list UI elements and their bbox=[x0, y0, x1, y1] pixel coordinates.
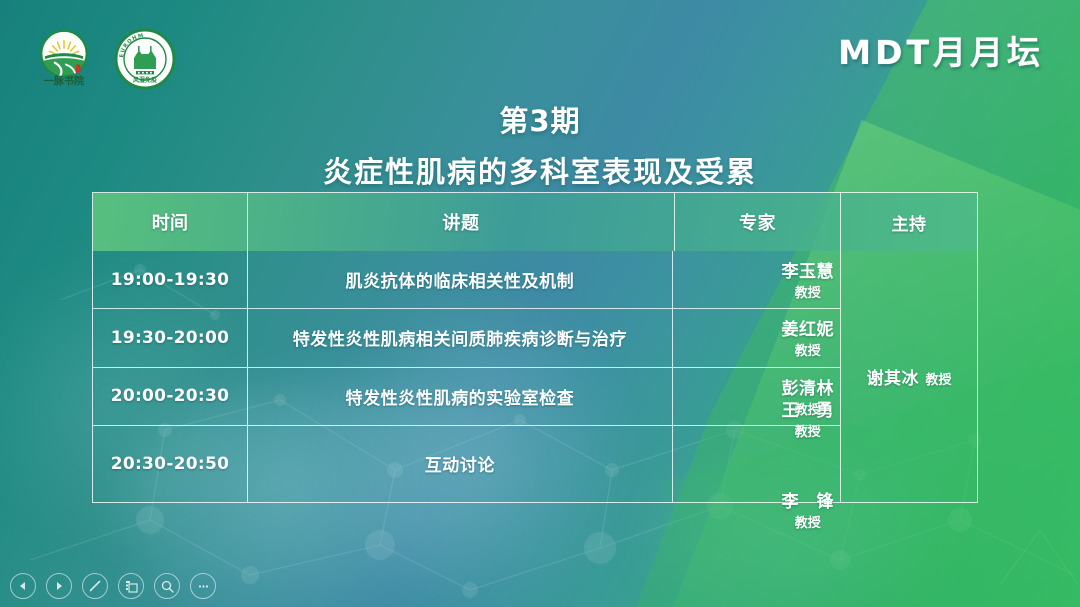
cell-topic: 特发性炎性肌病相关间质肺疾病诊断与治疗 bbox=[248, 309, 673, 366]
cell-time: 20:00-20:30 bbox=[93, 368, 248, 425]
svg-text:风湿免疫: 风湿免疫 bbox=[133, 76, 157, 84]
zoom-search-button[interactable] bbox=[154, 573, 180, 599]
slide-toolbar[interactable] bbox=[10, 573, 216, 599]
expert-name: 王 勇 bbox=[782, 401, 835, 421]
pen-icon bbox=[88, 579, 102, 593]
host-title: 教授 bbox=[925, 373, 951, 388]
magnifier-icon bbox=[161, 580, 174, 593]
cell-topic: 互动讨论 bbox=[248, 426, 673, 502]
cell-host: 谢其冰 教授 bbox=[841, 251, 977, 502]
episode-title: 第3期 bbox=[0, 98, 1080, 140]
title-block: 第3期 炎症性肌病的多科室表现及受累 bbox=[0, 98, 1080, 191]
table-header-row: 时间 讲题 专家 主持 bbox=[93, 193, 977, 251]
yimai-academy-logo: 一脉书院 bbox=[30, 28, 98, 90]
column-header-time: 时间 bbox=[93, 193, 248, 251]
schedule-table: 时间 讲题 专家 主持 19:00-19:30 肌炎抗体的临床相关性及机制 李玉… bbox=[92, 192, 978, 503]
previous-slide-button[interactable] bbox=[10, 573, 36, 599]
svg-text:一脉书院: 一脉书院 bbox=[44, 75, 84, 88]
slide-overview-button[interactable] bbox=[118, 573, 144, 599]
cell-time: 19:30-20:00 bbox=[93, 309, 248, 366]
ellipsis-icon bbox=[197, 580, 210, 593]
presentation-slide: 一脉书院 EUROHMUN ACADEMY 风湿免疫 bbox=[0, 0, 1080, 607]
triangle-left-icon bbox=[18, 581, 28, 591]
grid-layout-icon bbox=[125, 580, 138, 593]
pen-annotate-button[interactable] bbox=[82, 573, 108, 599]
expert-title: 教授 bbox=[795, 425, 821, 440]
expert-name: 姜红妮 bbox=[782, 320, 835, 340]
expert-name: 李玉慧 bbox=[782, 262, 835, 282]
logo-group: 一脉书院 EUROHMUN ACADEMY 风湿免疫 bbox=[30, 28, 176, 90]
cell-time: 20:30-20:50 bbox=[93, 426, 248, 502]
brand-title: MDT月月坛 bbox=[838, 26, 1044, 74]
column-header-host: 主持 bbox=[841, 193, 977, 251]
cell-topic: 肌炎抗体的临床相关性及机制 bbox=[248, 251, 673, 308]
page-title: 炎症性肌病的多科室表现及受累 bbox=[0, 149, 1080, 191]
more-options-button[interactable] bbox=[190, 573, 216, 599]
cell-topic: 特发性炎性肌病的实验室检查 bbox=[248, 368, 673, 425]
expert-title: 教授 bbox=[795, 516, 821, 531]
column-header-topic: 讲题 bbox=[248, 193, 675, 251]
rheumatism-academy-seal-logo: EUROHMUN ACADEMY 风湿免疫 bbox=[114, 28, 176, 90]
cell-expert: 王 勇 教授 李 锋 教授 bbox=[673, 426, 841, 502]
table-row: 20:30-20:50 互动讨论 王 勇 教授 李 锋 教授 bbox=[93, 425, 841, 502]
triangle-right-icon bbox=[54, 581, 64, 591]
table-session-rows: 19:00-19:30 肌炎抗体的临床相关性及机制 李玉慧 教授 19:30-2… bbox=[93, 251, 841, 502]
table-body: 19:00-19:30 肌炎抗体的临床相关性及机制 李玉慧 教授 19:30-2… bbox=[93, 251, 977, 502]
host-name: 谢其冰 bbox=[867, 369, 920, 389]
cell-time: 19:00-19:30 bbox=[93, 251, 248, 308]
next-slide-button[interactable] bbox=[46, 573, 72, 599]
expert-name: 李 锋 bbox=[782, 492, 835, 512]
